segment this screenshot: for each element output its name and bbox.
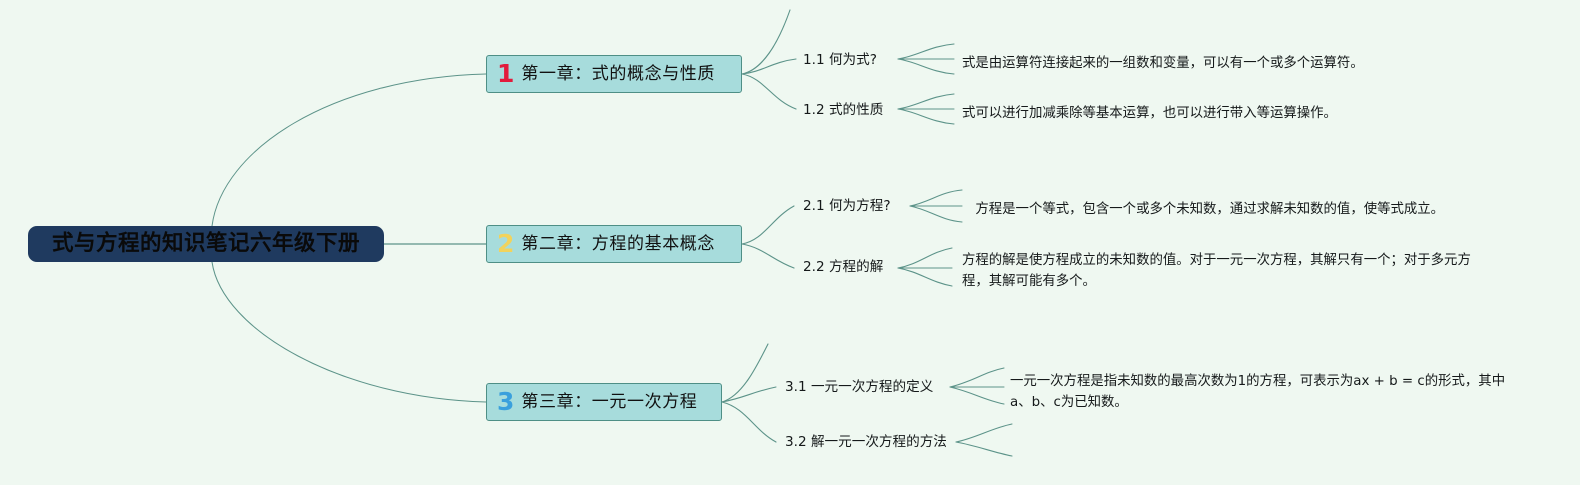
chapter-node-2[interactable]: 2 第二章：方程的基本概念: [486, 225, 742, 263]
edge-topic-3-1-fork-up: [950, 368, 1004, 387]
detail-text-1-2[interactable]: 式可以进行加减乘除等基本运算，也可以进行带入等运算操作。: [962, 103, 1522, 124]
edge-topic-1-1-fork-down: [898, 59, 954, 74]
edge-chapter-1-to-topic-1-1: [742, 59, 796, 74]
edge-topic-3-2-fork-up: [956, 424, 1012, 442]
edge-topic-2-1-fork-down: [910, 206, 962, 222]
topic-label-2-1[interactable]: 2.1 何为方程?: [803, 200, 891, 214]
topic-label-1-1[interactable]: 1.1 何为式?: [803, 54, 877, 68]
detail-text-2-2[interactable]: 方程的解是使方程成立的未知数的值。对于一元一次方程，其解只有一个；对于多元方程，…: [962, 250, 1484, 292]
edge-topic-1-2-fork-up: [898, 94, 954, 109]
edge-topic-1-2-fork-down: [898, 109, 954, 124]
detail-text-1-1[interactable]: 式是由运算符连接起来的一组数和变量，可以有一个或多个运算符。: [962, 53, 1522, 74]
edge-chapter-3-fork-up: [722, 344, 768, 402]
topic-label-2-2[interactable]: 2.2 方程的解: [803, 261, 883, 275]
edge-root-to-chapter-1: [212, 74, 486, 226]
chapter-node-1[interactable]: 1 第一章：式的概念与性质: [486, 55, 742, 93]
edge-topic-2-2-fork-down: [898, 268, 952, 286]
detail-text-2-1[interactable]: 方程是一个等式，包含一个或多个未知数，通过求解未知数的值，使等式成立。: [962, 199, 1542, 220]
chapter-number-2: 2: [497, 231, 514, 258]
mindmap-canvas: 式与方程的知识笔记六年级下册 1 第一章：式的概念与性质 1.1 何为式? 式是…: [0, 0, 1580, 485]
detail-text-3-1[interactable]: 一元一次方程是指未知数的最高次数为1的方程，可表示为ax + b = c的形式，…: [1010, 371, 1522, 413]
chapter-title-2: 第二章：方程的基本概念: [521, 236, 715, 253]
edge-topic-2-2-fork-up: [898, 248, 952, 268]
topic-label-3-1[interactable]: 3.1 一元一次方程的定义: [785, 381, 933, 395]
chapter-title-1: 第一章：式的概念与性质: [521, 66, 715, 83]
edge-topic-1-1-fork-up: [898, 44, 954, 59]
edge-chapter-1-to-topic-1-2: [742, 74, 796, 109]
edge-chapter-3-to-topic-3-1: [722, 387, 776, 402]
edge-chapter-2-to-topic-2-2: [742, 244, 794, 268]
edge-topic-3-2-fork-down: [956, 442, 1012, 456]
root-node[interactable]: 式与方程的知识笔记六年级下册: [28, 226, 384, 262]
chapter-node-3[interactable]: 3 第三章：一元一次方程: [486, 383, 722, 421]
chapter-number-3: 3: [497, 389, 514, 416]
root-node-label: 式与方程的知识笔记六年级下册: [52, 233, 360, 255]
edge-topic-2-1-fork-up: [910, 190, 962, 206]
chapter-number-1: 1: [497, 61, 514, 88]
edge-chapter-3-to-topic-3-2: [722, 402, 776, 442]
topic-label-1-2[interactable]: 1.2 式的性质: [803, 104, 883, 118]
edge-chapter-1-fork-up: [742, 10, 790, 74]
edge-topic-3-1-fork-down: [950, 387, 1004, 404]
edge-root-to-chapter-3: [212, 262, 486, 402]
topic-label-3-2[interactable]: 3.2 解一元一次方程的方法: [785, 436, 947, 450]
chapter-title-3: 第三章：一元一次方程: [521, 394, 697, 411]
edge-chapter-2-to-topic-2-1: [742, 206, 794, 244]
